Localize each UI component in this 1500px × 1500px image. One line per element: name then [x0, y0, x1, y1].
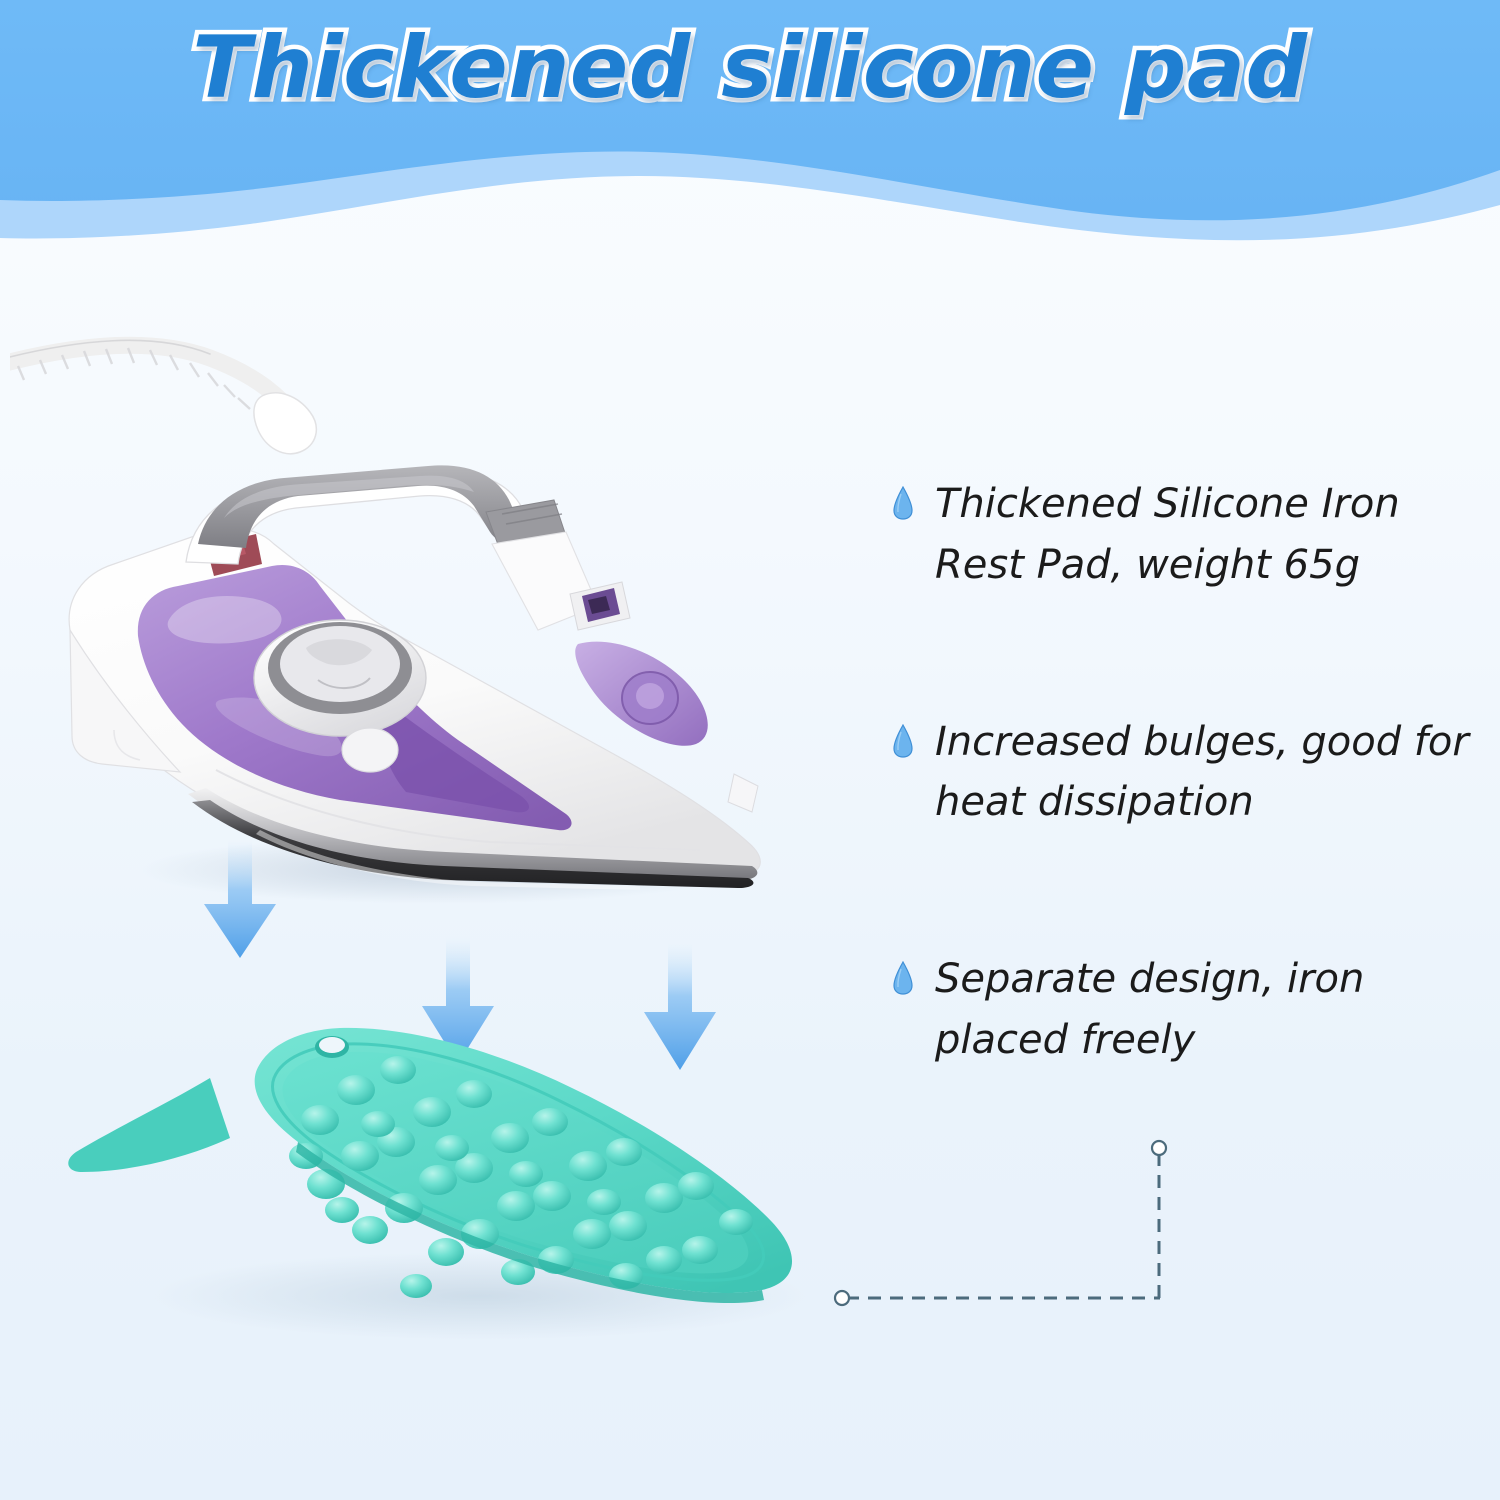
temperature-dial[interactable] — [254, 620, 426, 736]
dimension-endpoint-bottom — [835, 1291, 849, 1305]
dimension-endpoint-top — [1152, 1141, 1166, 1155]
iron-drop-bullet-glyph — [893, 724, 913, 758]
feature-item-1: Thickened Silicone Iron Rest Pad, weight… — [893, 474, 1493, 596]
nose-button[interactable] — [728, 774, 758, 812]
feature-list: Thickened Silicone Iron Rest Pad, weight… — [893, 474, 1493, 1071]
feature-text-2: Increased bulges, good for heat dissipat… — [935, 712, 1475, 834]
pad-tail-flap — [68, 1078, 230, 1172]
power-cord — [10, 340, 316, 453]
feature-item-3: Separate design, iron placed freely — [893, 949, 1493, 1071]
iron-handle-grip — [198, 465, 526, 548]
feature-text-3: Separate design, iron placed freely — [935, 949, 1475, 1071]
spray-button[interactable] — [342, 728, 398, 772]
silicone-pad-image — [60, 960, 890, 1360]
silicone-pad-graphic — [60, 960, 890, 1360]
iron-drop-bullet-icon — [893, 486, 913, 520]
dimension-guide-graphic — [820, 1120, 1240, 1320]
arrow-down-1 — [204, 840, 276, 958]
iron-drop-bullet-icon — [893, 961, 913, 995]
page-title: Thickened silicone pad — [0, 18, 1500, 118]
pad-hanging-hole — [315, 1036, 349, 1058]
feature-text-1: Thickened Silicone Iron Rest Pad, weight… — [935, 474, 1475, 596]
iron-drop-bullet-icon — [893, 724, 913, 758]
cord-strain-relief — [254, 393, 316, 454]
steam-iron-graphic — [10, 300, 840, 920]
feature-item-2: Increased bulges, good for heat dissipat… — [893, 712, 1493, 834]
product-infographic: Thickened silicone pad — [0, 0, 1500, 1500]
dimension-guide — [820, 1120, 1240, 1320]
header-banner: Thickened silicone pad — [0, 0, 1500, 250]
steam-iron-image — [10, 300, 840, 920]
iron-drop-bullet-glyph — [893, 486, 913, 520]
iron-drop-bullet-glyph — [893, 961, 913, 995]
